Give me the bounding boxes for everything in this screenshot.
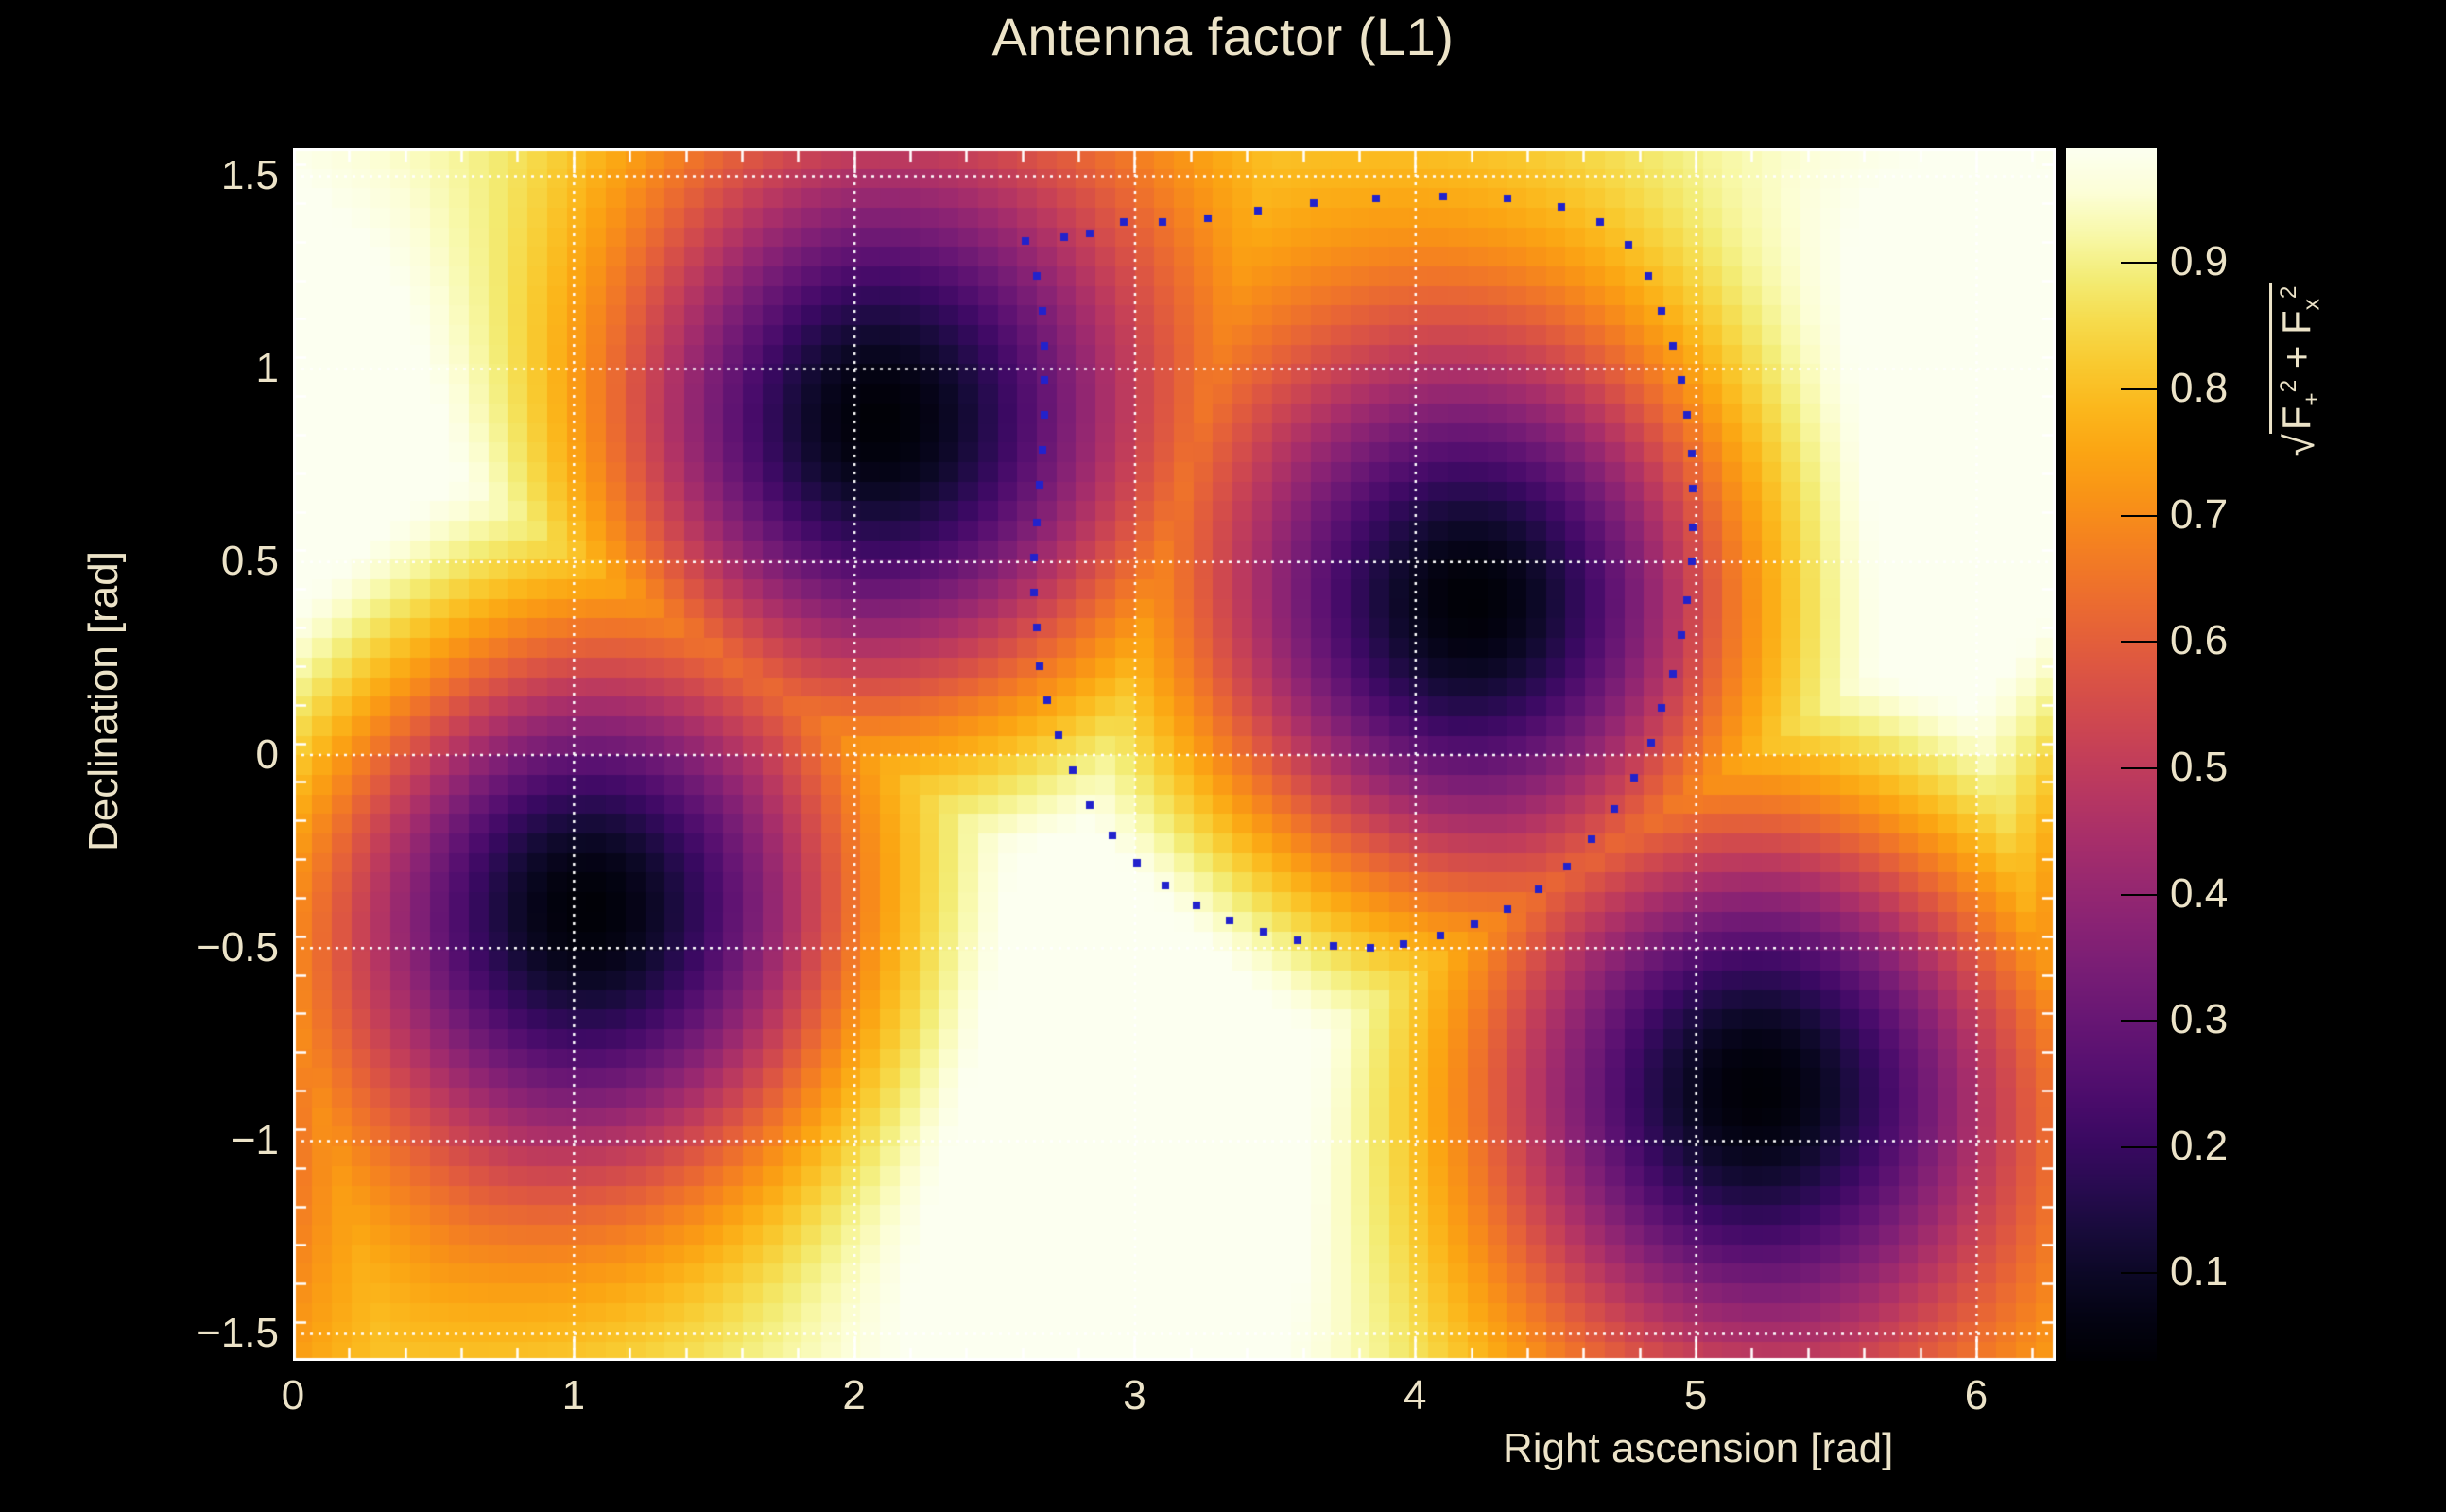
x-axis-ticks: 0123456 bbox=[293, 1372, 2056, 1429]
colorbar-tick-label: 0.1 bbox=[2170, 1248, 2293, 1296]
y-tick-label: −1 bbox=[128, 1117, 279, 1164]
colorbar-tick-mark bbox=[2121, 641, 2157, 643]
y-tick-label: 0 bbox=[128, 731, 279, 779]
colorbar-tick-mark bbox=[2121, 1020, 2157, 1022]
colorbar-tick-label: 0.3 bbox=[2170, 996, 2293, 1043]
colorbar-tick-mark bbox=[2121, 767, 2157, 769]
y-tick-label: −1.5 bbox=[128, 1310, 279, 1357]
plus-operator: + bbox=[2274, 346, 2318, 369]
f-cross-term: Fx2 bbox=[2274, 286, 2318, 335]
colorbar-ticks: 0.10.20.30.40.50.60.70.80.9 bbox=[2066, 148, 2157, 1361]
y-axis-ticks: 1.510.50−0.5−1−1.5 bbox=[113, 148, 279, 1361]
z-axis-title: √F+2 + Fx2 bbox=[2269, 147, 2324, 592]
colorbar-tick-mark bbox=[2121, 515, 2157, 517]
colorbar-tick-mark bbox=[2121, 894, 2157, 896]
x-tick-label: 2 bbox=[798, 1372, 911, 1419]
x-tick-label: 3 bbox=[1077, 1372, 1191, 1419]
sqrt-icon: √ bbox=[2280, 434, 2321, 456]
chart-title: Antenna factor (L1) bbox=[0, 6, 2446, 67]
y-tick-label: 1 bbox=[128, 345, 279, 392]
colorbar-tick-mark bbox=[2121, 388, 2157, 390]
x-tick-label: 0 bbox=[236, 1372, 350, 1419]
colorbar-tick-mark bbox=[2121, 262, 2157, 264]
plot-area bbox=[293, 148, 2056, 1361]
y-tick-label: 0.5 bbox=[128, 538, 279, 585]
colorbar-tick-label: 0.5 bbox=[2170, 744, 2293, 791]
colorbar-tick-mark bbox=[2121, 1272, 2157, 1274]
x-axis-title: Right ascension [rad] bbox=[1503, 1425, 2070, 1472]
f-plus-term: F+2 bbox=[2274, 380, 2318, 430]
x-tick-label: 4 bbox=[1358, 1372, 1472, 1419]
y-tick-label: 1.5 bbox=[128, 152, 279, 199]
chart-root: Antenna factor (L1) 1.510.50−0.5−1−1.5 0… bbox=[0, 0, 2446, 1512]
colorbar-tick-label: 0.2 bbox=[2170, 1123, 2293, 1170]
x-tick-label: 5 bbox=[1639, 1372, 1752, 1419]
x-tick-label: 1 bbox=[517, 1372, 630, 1419]
z-axis-title-host: √F+2 + Fx2 bbox=[2268, 148, 2325, 602]
colorbar-tick-mark bbox=[2121, 1146, 2157, 1148]
y-tick-label: −0.5 bbox=[128, 924, 279, 971]
radicand: F+2 + Fx2 bbox=[2269, 283, 2324, 435]
y-axis-title: Declination [rad] bbox=[80, 408, 128, 994]
colorbar: 0.10.20.30.40.50.60.70.80.9 bbox=[2066, 148, 2157, 1361]
colorbar-tick-label: 0.6 bbox=[2170, 617, 2293, 664]
colorbar-tick-label: 0.4 bbox=[2170, 870, 2293, 918]
x-tick-label: 6 bbox=[1920, 1372, 2033, 1419]
y-axis-title-host: Declination [rad] bbox=[57, 148, 113, 1361]
overlay-curve-canvas bbox=[293, 148, 2056, 1361]
